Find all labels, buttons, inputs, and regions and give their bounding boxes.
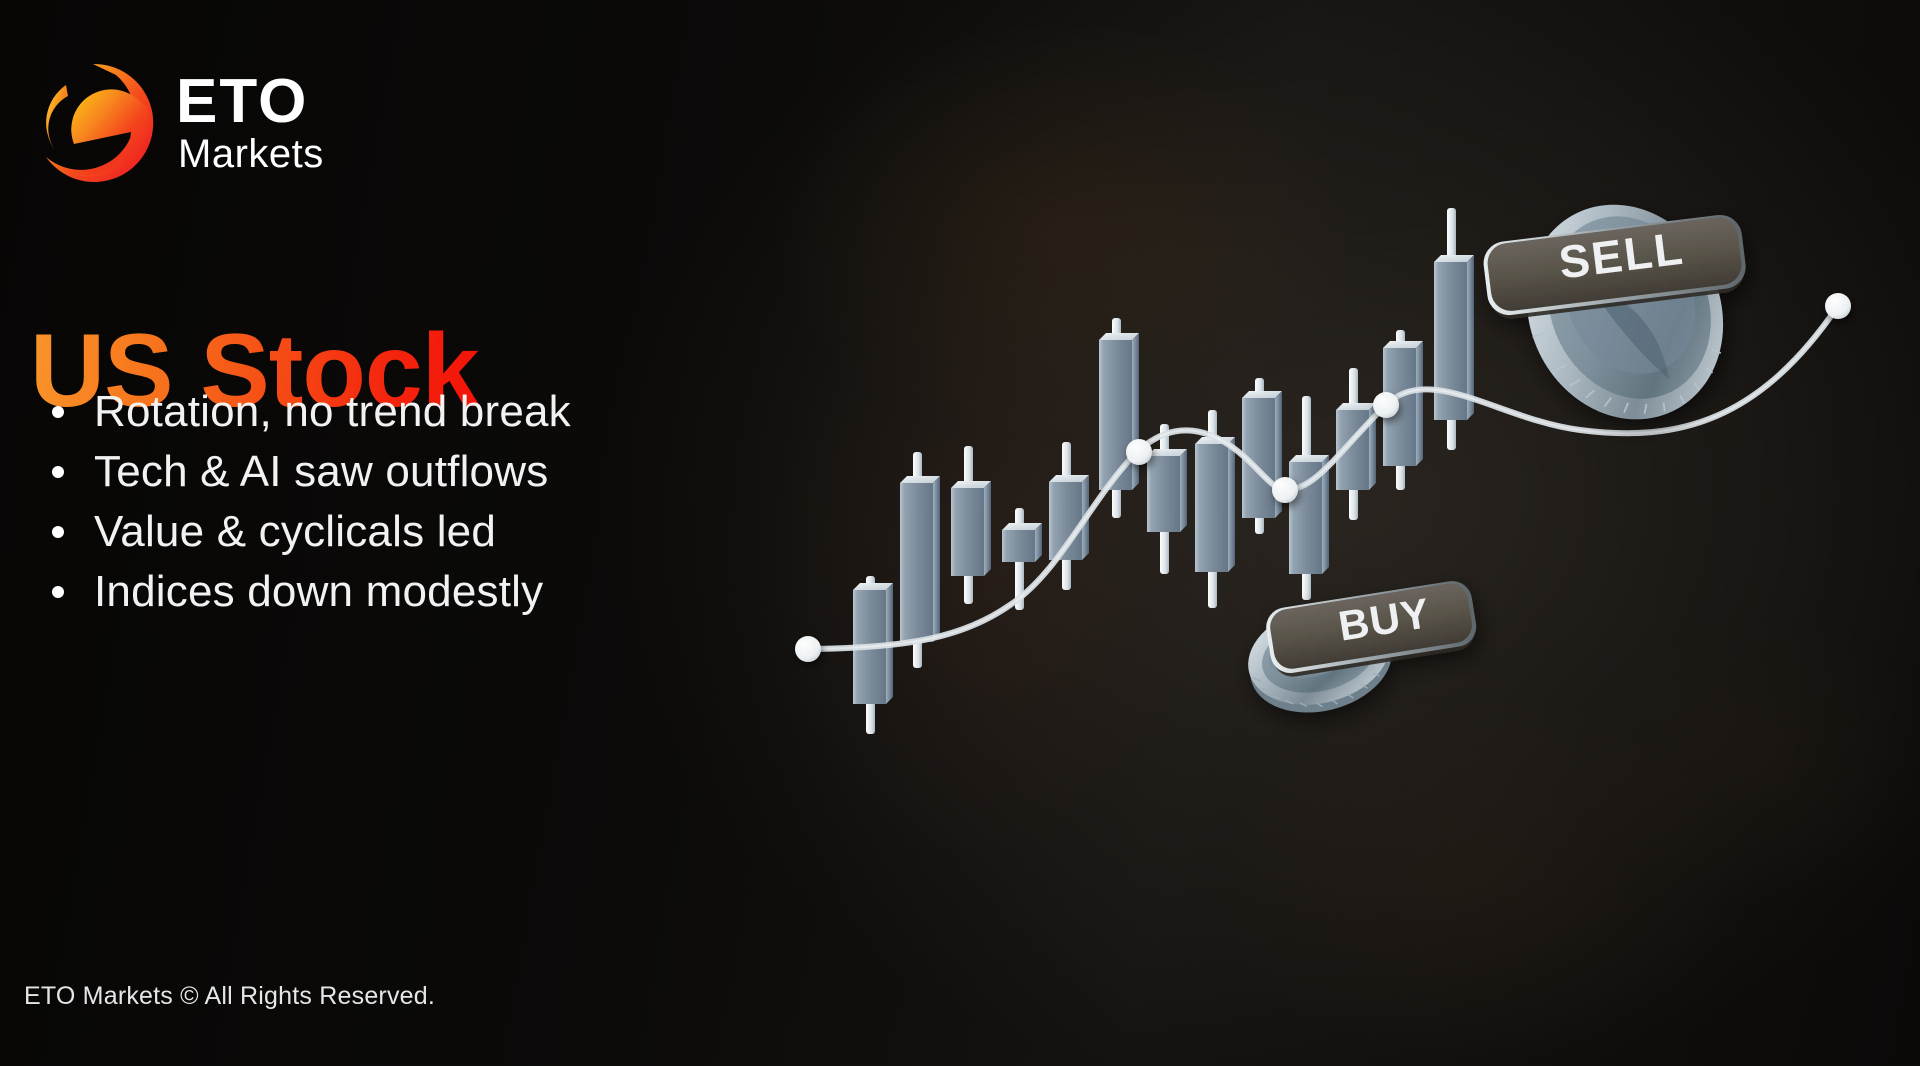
trend-line (808, 306, 1838, 649)
sell-coin-group: SELL (1481, 171, 1759, 452)
brand-name-primary: ETO (176, 72, 324, 133)
sell-badge: SELL (1481, 212, 1749, 321)
brand-logo[interactable]: ETO Markets (28, 58, 324, 188)
brand-wordmark: ETO Markets (176, 72, 324, 174)
buy-badge-label: BUY (1335, 589, 1433, 650)
sell-coin-icon (1491, 171, 1758, 452)
list-item: Tech & AI saw outflows (52, 442, 571, 502)
list-item-label: Indices down modestly (94, 567, 543, 617)
list-item: Indices down modestly (52, 562, 571, 622)
eto-swirl-logo-icon (28, 58, 158, 188)
candlestick-bar (1434, 208, 1474, 450)
candlestick-series (853, 208, 1474, 734)
sell-badge-label: SELL (1556, 222, 1687, 289)
list-item: Rotation, no trend break (52, 382, 571, 442)
candlestick-bar (1336, 368, 1376, 520)
bullet-dot-icon (52, 406, 64, 418)
candlestick-bar (1147, 424, 1187, 574)
highlights-list: Rotation, no trend break Tech & AI saw o… (52, 382, 571, 622)
candlestick-bar (1242, 378, 1282, 534)
candlestick-bar (900, 452, 940, 668)
trend-marker (1272, 477, 1298, 503)
brand-name-secondary: Markets (178, 135, 324, 174)
list-item-label: Rotation, no trend break (94, 387, 571, 437)
buy-badge: BUY (1263, 578, 1479, 680)
candlestick-bar (1195, 410, 1235, 608)
buy-coin-group: BUY (1238, 578, 1480, 727)
candlestick-bar (1049, 442, 1089, 590)
candlestick-bar (853, 576, 893, 734)
trend-marker (1825, 293, 1851, 319)
bullet-dot-icon (52, 526, 64, 538)
list-item: Value & cyclicals led (52, 502, 571, 562)
bullet-dot-icon (52, 466, 64, 478)
list-item-label: Tech & AI saw outflows (94, 447, 548, 497)
candlestick-bar (1383, 330, 1423, 490)
slide-canvas: BUY (0, 0, 1920, 1066)
candlestick-bar (1002, 508, 1042, 610)
list-item-label: Value & cyclicals led (94, 507, 496, 557)
candlestick-bar (1289, 396, 1329, 600)
trend-marker (795, 636, 821, 662)
copyright-footer: ETO Markets © All Rights Reserved. (24, 982, 435, 1011)
trend-marker (1126, 439, 1152, 465)
trend-marker (1373, 392, 1399, 418)
buy-coin-icon (1238, 591, 1403, 727)
candlestick-bar (951, 446, 991, 604)
bullet-dot-icon (52, 586, 64, 598)
candlestick-bar (1099, 318, 1139, 518)
trend-markers (795, 293, 1851, 662)
